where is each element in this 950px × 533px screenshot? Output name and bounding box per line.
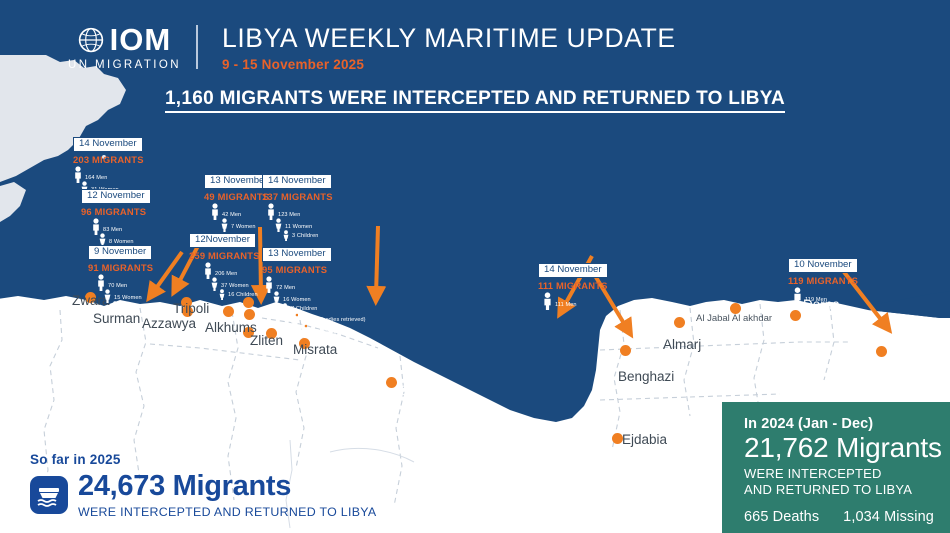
breakdown-label: 111 Men: [555, 303, 577, 310]
breakdown-label: 6 Children: [121, 305, 148, 312]
stat-left-number: 24,673 Migrants: [78, 472, 377, 501]
callout-total: 91 MIGRANTS: [88, 262, 153, 273]
callout-breakdown: 119 Men: [788, 287, 858, 305]
city-label-misrata: Misrata: [293, 342, 337, 357]
breakdown-row: 111 Men: [542, 292, 608, 310]
city-label-sirt: Sirt: [400, 383, 420, 398]
man-icon: [210, 203, 220, 220]
callout-total: 137 MIGRANTS: [262, 191, 333, 202]
callout-total: 259 MIGRANTS: [189, 250, 260, 261]
stat-right-kicker: In 2024 (Jan - Dec): [744, 416, 950, 432]
stat-so-far-2025: So far in 2025 24,673 Migrants WERE INTE…: [30, 452, 377, 519]
stat-right-deaths: 665 Deaths: [744, 509, 819, 525]
city-label-azzawya: Azzawya: [142, 316, 196, 331]
stat-2024-box: In 2024 (Jan - Dec) 21,762 Migrants WERE…: [722, 402, 950, 533]
woman-icon: [272, 291, 281, 305]
callout-zliten-13nov[interactable]: 13 November 95 MIGRANTS 72 Men 16 Women …: [262, 243, 366, 337]
callout-azzawya-9nov[interactable]: 9 November 91 MIGRANTS 70 Men 15 Women 6…: [88, 241, 153, 312]
city-dot-almarj[interactable]: [674, 317, 685, 328]
city-dot-tobruk[interactable]: [876, 346, 887, 357]
callout-derna-10nov[interactable]: 10 November 119 MIGRANTS 119 Men: [788, 254, 858, 305]
callout-breakdown: 72 Men 16 Women 7 Children 4 Dead (bodie…: [262, 276, 366, 337]
callout-breakdown: 206 Men 37 Women 16 Children: [189, 262, 260, 300]
headline-banner: 1,160 MIGRANTS WERE INTERCEPTED AND RETU…: [0, 88, 950, 110]
callout-total: 95 MIGRANTS: [262, 264, 366, 275]
city-dot-sirt[interactable]: [386, 377, 397, 388]
page-header: IOM UN MIGRATION LIBYA WEEKLY MARITIME U…: [0, 0, 950, 80]
city-dot-surman[interactable]: [223, 306, 234, 317]
callout-alkhums-12nov[interactable]: 12November 259 MIGRANTS 206 Men 37 Women…: [189, 229, 260, 300]
child-icon: [282, 230, 290, 241]
callout-total: 96 MIGRANTS: [81, 206, 151, 217]
callout-breakdown: 123 Men 11 Women 3 Children: [262, 203, 333, 241]
city-label-aljabal: Al Jabal Al akhdar: [696, 313, 772, 324]
stat-left-subtitle: WERE INTERCEPTED AND RETURNED TO LIBYA: [78, 505, 377, 519]
island-a: [0, 182, 26, 222]
callout-date: 9 November: [88, 245, 152, 261]
breakdown-label: 119 Men: [805, 298, 827, 305]
callout-date: 13 November: [262, 247, 332, 263]
callout-date: 10 November: [788, 258, 858, 274]
callout-total: 111 MIGRANTS: [538, 280, 608, 291]
org-name: IOM: [110, 24, 172, 55]
breakdown-row: 40 Missing: [298, 324, 366, 337]
man-icon: [792, 287, 803, 305]
stat-right-number: 21,762 Migrants: [744, 433, 950, 463]
dead-icon: [289, 313, 298, 325]
callout-benghazi-14nov[interactable]: 14 November 111 MIGRANTS 111 Men: [538, 259, 608, 310]
breakdown-label: 4 Dead (bodies retrieved): [300, 318, 366, 325]
headline-text: 1,160 MIGRANTS WERE INTERCEPTED AND RETU…: [165, 88, 785, 113]
child-icon: [218, 289, 226, 300]
page-title: LIBYA WEEKLY MARITIME UPDATE: [222, 25, 676, 52]
callout-date: 12 November: [81, 189, 151, 205]
breakdown-row: 119 Men: [792, 287, 858, 305]
city-label-benghazi: Benghazi: [618, 369, 674, 384]
stat-left-kicker: So far in 2025: [30, 452, 377, 467]
callout-breakdown: 70 Men 15 Women 6 Children: [88, 274, 153, 312]
man-icon: [542, 292, 553, 310]
callout-tripoli-14nov[interactable]: 14 November 137 MIGRANTS 123 Men 11 Wome…: [262, 170, 333, 241]
header-divider: [196, 25, 198, 69]
callout-date: 14 November: [262, 174, 332, 190]
stat-right-missing: 1,034 Missing: [843, 509, 934, 525]
breakdown-label: 40 Missing: [309, 330, 337, 337]
callout-total: 203 MIGRANTS: [73, 154, 144, 165]
breakdown-label: 16 Children: [228, 293, 258, 300]
date-range: 9 - 15 November 2025: [222, 57, 364, 72]
stat-right-subtitle-2: AND RETURNED TO LIBYA: [744, 482, 950, 498]
iom-logo: IOM UN MIGRATION: [68, 24, 181, 71]
infographic-canvas: IOM UN MIGRATION LIBYA WEEKLY MARITIME U…: [0, 0, 950, 533]
city-dot-derna[interactable]: [790, 310, 801, 321]
breakdown-label: 3 Children: [292, 234, 319, 241]
child-icon: [281, 303, 289, 314]
city-label-almarj: Almarj: [663, 337, 701, 352]
callout-total: 119 MIGRANTS: [788, 275, 858, 286]
city-label-ejdabia: Ejdabia: [622, 432, 667, 447]
boat-icon: [30, 476, 68, 514]
callout-date: 14 November: [73, 137, 143, 153]
callout-date: 14 November: [538, 263, 608, 279]
org-tagline: UN MIGRATION: [68, 59, 181, 71]
stat-right-subtitle-1: WERE INTERCEPTED: [744, 466, 950, 482]
globe-icon: [78, 27, 104, 53]
child-icon: [111, 301, 119, 312]
city-label-alkhums: Alkhums: [205, 320, 257, 335]
callout-breakdown: 111 Men: [538, 292, 608, 310]
missing-icon: [298, 324, 307, 337]
callout-date: 12November: [189, 233, 256, 249]
